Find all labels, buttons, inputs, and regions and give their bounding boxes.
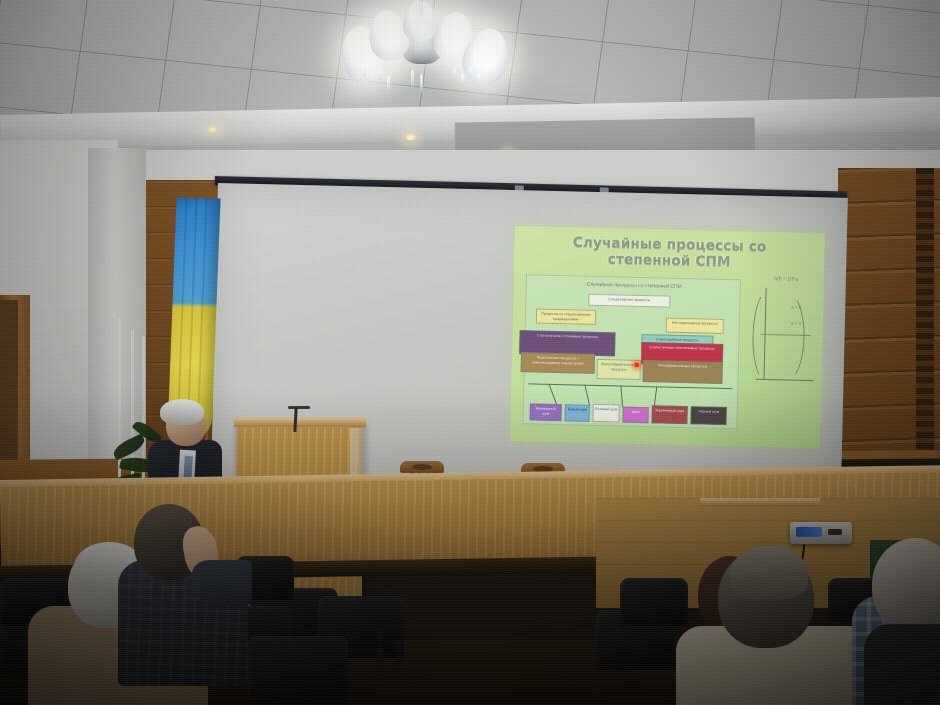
chandelier-crystal	[363, 66, 366, 78]
chandelier-lamp	[403, 0, 437, 42]
diagram-connector-line	[528, 383, 732, 389]
attendee-hair	[730, 546, 808, 600]
ceiling-spotlight-icon	[206, 126, 219, 134]
chandelier-crystal	[461, 74, 464, 86]
attendee-arm	[192, 560, 252, 606]
diagram-box-brown-noise: Коричневый шум	[651, 405, 687, 424]
diagram-connector-line	[620, 386, 623, 408]
chair-leg	[396, 640, 401, 692]
diagram-box-stationary-increments: Процессы со стационарными приращениями	[536, 309, 596, 325]
diagram-box-white-noise: Белый шум	[564, 404, 589, 422]
diagram-box-stationary: Стационарные процессы	[588, 294, 670, 308]
audience-chair[interactable]	[248, 636, 348, 705]
diagram-connector-line	[584, 385, 590, 407]
diagram-header: Случайные процессы со степенной СПМ	[533, 278, 736, 294]
slide-title: Случайные процессы со степенной СПМ	[514, 233, 825, 272]
chandelier-crystal	[411, 70, 414, 88]
attendee-beige-jacket	[676, 554, 876, 705]
projected-slide: Случайные процессы со степенной СПМ Случ…	[510, 226, 825, 448]
laser-pointer-dot	[635, 363, 639, 367]
lectern-top	[234, 418, 366, 427]
slide-diagram: Случайные процессы со степенной СПМ Стац…	[522, 274, 740, 429]
chandelier-crystal	[379, 68, 382, 80]
graph-curve-label: a > 0	[791, 305, 801, 310]
ceiling-spotlight-icon	[404, 134, 417, 142]
attendee-torso	[864, 624, 940, 705]
plant-leaf	[111, 433, 148, 460]
microphone-icon	[288, 406, 310, 409]
presenter-hair	[160, 399, 204, 425]
graph-formula: S(f) ~ 1/f^a	[754, 276, 818, 284]
diagram-box-varying-params: Фрактальные процессы с изменяющимися пар…	[521, 352, 595, 374]
projector-vent	[828, 529, 842, 535]
chandelier-crystal	[469, 67, 472, 79]
attendee-plaid-shirt	[118, 498, 248, 678]
diagram-box-nonstationary: Нестационарные процессы	[666, 318, 724, 334]
projector[interactable]	[790, 522, 852, 544]
chandelier	[340, 0, 515, 106]
chandelier-crystal	[453, 68, 456, 80]
attendee-grey-hair-right	[872, 538, 940, 705]
slide-graph: S(f) ~ 1/f^a a > 0 a < 0	[749, 276, 818, 388]
chandelier-crystal	[420, 74, 423, 94]
graph-curve-label: a < 0	[791, 321, 801, 326]
diagram-connector-line	[548, 384, 557, 405]
diagram-box-black-noise: Чёрный шум	[690, 406, 726, 425]
chandelier-crystal	[387, 76, 390, 92]
diagram-box-monofractal: Монофрактальные процессы	[642, 360, 722, 384]
chandelier-crystal	[477, 73, 480, 88]
chandelier-crystal	[371, 72, 374, 84]
diagram-box-noise: Шум	[622, 407, 648, 424]
counter-ledge	[700, 498, 820, 507]
diagram-box-flicker-noise: Фликкерный шум	[529, 403, 561, 421]
attendee-head	[872, 538, 940, 632]
projector-lens	[796, 527, 822, 537]
diagram-box-pink-noise: Розовый шум	[592, 404, 619, 423]
conference-hall-photo: Случайные процессы со степенной СПМ Случ…	[0, 0, 940, 705]
chair-leg	[378, 628, 383, 688]
wall-trim-right	[916, 168, 934, 498]
chair-ornament	[412, 464, 432, 470]
